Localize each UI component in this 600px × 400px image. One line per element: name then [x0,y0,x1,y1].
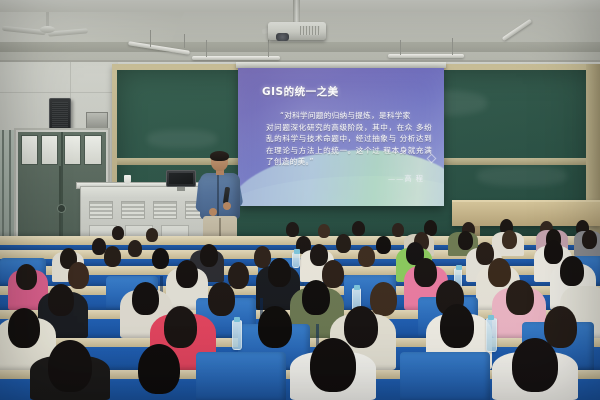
student-head [200,244,218,267]
projector-lens-icon [276,33,289,41]
projector-vent [300,26,320,35]
water-bottle [486,318,497,352]
student-head [112,226,124,240]
student-head [8,308,40,348]
student-head [286,222,299,237]
presenter-hair [210,151,229,161]
door-handle-icon[interactable] [57,204,66,213]
cup-on-podium [124,175,131,184]
water-bottle [292,252,300,268]
student-head [560,256,584,286]
student-head [208,282,235,316]
student-head [302,280,330,315]
presenter-shirt-placket [217,175,219,217]
light-rod [452,38,453,55]
door-glass-pane [84,135,102,165]
student-head [358,246,375,267]
student-head [344,306,378,348]
monitor-screen [169,173,193,184]
student-head [506,280,534,315]
chalk-smudge [477,166,567,186]
student-head [370,282,397,316]
student-head [544,306,577,348]
bottle-cap [234,317,240,322]
presenter-right-hand [223,202,231,210]
seat-back[interactable] [196,352,286,400]
door-glass-pane [64,135,81,165]
door-glass-pane [41,135,58,165]
student-head [176,260,198,288]
speaker-grille [52,102,68,128]
student-head [152,248,169,269]
bottle-cap [354,285,360,290]
projection-screen: GIS的统一之美 “对科学问题的归纳与提炼，是科学家 对问题深化研究的高级阶段，… [238,68,444,206]
student-head [132,282,159,315]
student-head [440,304,474,348]
computer-monitor [166,170,196,187]
student-head [414,258,437,287]
student-head [104,246,121,267]
student-head [48,340,92,392]
slide-attribution: ——高 程 [388,174,424,184]
slide-body-line: “对科学问题的归纳与提炼，是科学家 [266,110,432,122]
student-head [16,264,37,290]
light-rod [400,40,401,55]
ceiling-beam [0,42,600,52]
student-head [544,240,563,264]
door-glass-pane [21,135,38,165]
student-head [138,344,180,394]
student-head [318,224,330,238]
seat-back[interactable] [400,352,490,400]
student-head [228,262,249,289]
monitor-stand [177,187,185,191]
bottle-cap [294,249,300,254]
student-head [352,221,365,236]
presenter-left-hand [209,208,217,216]
student-head [268,258,291,287]
light-rod [206,40,207,57]
student-head [502,230,517,249]
chalk-smudge [147,130,217,148]
cabinet-vent [121,201,145,219]
cabinet-vent [89,201,113,219]
light-rod [150,30,151,47]
ceiling-fan-hub [40,26,55,33]
light-rod [184,34,185,48]
slide-body-text: “对科学问题的归纳与提炼，是科学家 对问题深化研究的高级阶段，其中，在众 多纷乱… [266,110,432,168]
wall-panel-line [0,92,118,93]
bottle-cap [456,265,462,270]
student-head [258,306,292,348]
light-rod [268,40,269,57]
student-head [488,258,511,287]
slide-body-line: 对问题深化研究的高级阶段，其中，在众 [266,123,413,132]
student-head [392,223,404,237]
cabinet-vent [153,201,177,219]
water-bottle [232,320,242,350]
student-head [146,228,158,242]
projector-mount-pole [293,0,300,24]
student-head [48,284,74,316]
ceiling-beam-upper [0,0,600,12]
student-head [458,231,473,250]
wall-vent-box [86,112,108,129]
student-head [164,306,197,348]
presenter-torso [200,173,240,219]
slide-title: GIS的统一之美 [262,84,339,99]
bottle-cap [488,315,494,320]
student-head [310,338,356,392]
lecture-hall-photo: GIS的统一之美 “对科学问题的归纳与提炼，是科学家 对问题深化研究的高级阶段，… [0,0,600,400]
student-head [128,240,142,257]
student-head [376,236,391,254]
student-head [68,262,89,289]
student-head [336,234,351,253]
student-head [582,230,597,249]
student-head [512,338,558,392]
